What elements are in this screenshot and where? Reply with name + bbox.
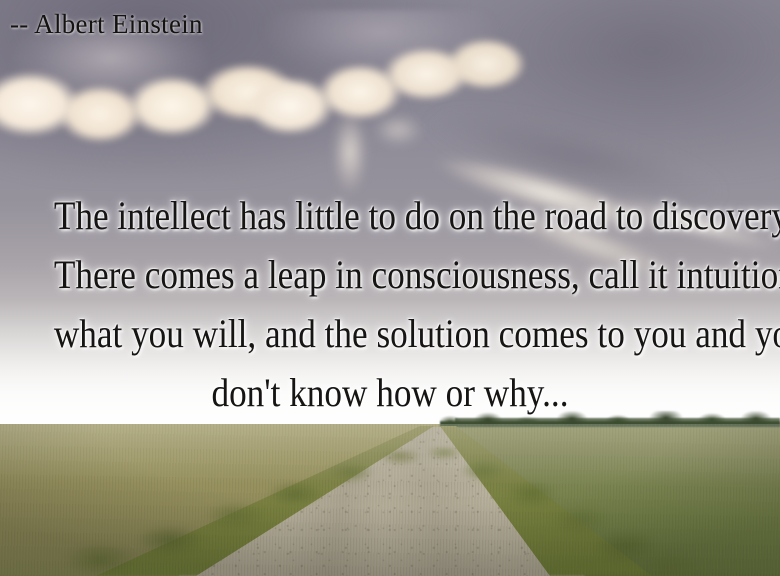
quote-line-1: The intellect has little to do on the ro…	[54, 186, 726, 245]
quote-line-3: what you will, and the solution comes to…	[54, 304, 726, 363]
quote-block: The intellect has little to do on the ro…	[8, 186, 772, 422]
quote-poster: -- Albert Einstein The intellect has lit…	[0, 0, 780, 576]
quote-line-2: There comes a leap in consciousness, cal…	[54, 245, 726, 304]
quote-line-4: don't know how or why...	[54, 363, 726, 422]
attribution-text: -- Albert Einstein	[10, 8, 203, 40]
ground-vignette	[0, 424, 780, 576]
